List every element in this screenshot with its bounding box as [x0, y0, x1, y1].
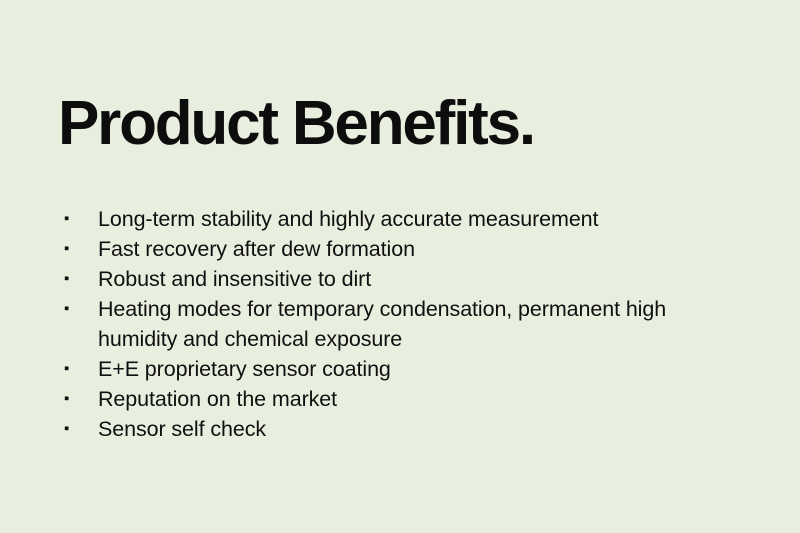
list-item: ▪ Heating modes for temporary condensati… — [60, 294, 750, 354]
bullet-square-icon: ▪ — [60, 234, 98, 264]
list-item: ▪ Robust and insensitive to dirt — [60, 264, 750, 294]
list-item-label: Fast recovery after dew formation — [98, 234, 750, 264]
bullet-square-icon: ▪ — [60, 414, 98, 444]
benefits-list: ▪ Long-term stability and highly accurat… — [60, 204, 750, 444]
bullet-square-icon: ▪ — [60, 354, 98, 384]
bullet-square-icon: ▪ — [60, 264, 98, 294]
list-item-label: Robust and insensitive to dirt — [98, 264, 750, 294]
list-item-label: Long-term stability and highly accurate … — [98, 204, 750, 234]
list-item: ▪ Reputation on the market — [60, 384, 750, 414]
list-item: ▪ Long-term stability and highly accurat… — [60, 204, 750, 234]
page-title: Product Benefits. — [58, 93, 534, 155]
list-item-label: Heating modes for temporary condensation… — [98, 294, 750, 354]
bullet-square-icon: ▪ — [60, 204, 98, 234]
slide-canvas: Product Benefits. ▪ Long-term stability … — [0, 0, 800, 533]
list-item: ▪ Sensor self check — [60, 414, 750, 444]
list-item: ▪ E+E proprietary sensor coating — [60, 354, 750, 384]
list-item-label: Reputation on the market — [98, 384, 750, 414]
list-item: ▪ Fast recovery after dew formation — [60, 234, 750, 264]
bullet-square-icon: ▪ — [60, 294, 98, 324]
bullet-square-icon: ▪ — [60, 384, 98, 414]
list-item-label: Sensor self check — [98, 414, 750, 444]
list-item-label: E+E proprietary sensor coating — [98, 354, 750, 384]
